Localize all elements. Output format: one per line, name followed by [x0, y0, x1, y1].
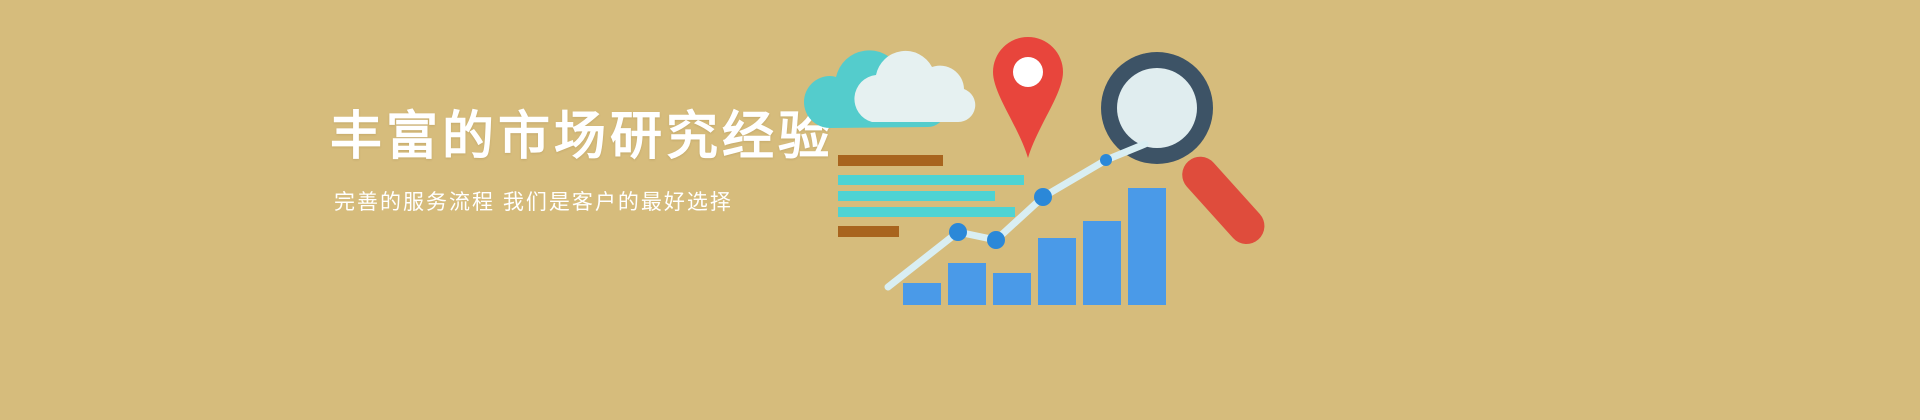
- magnifier-handle: [1175, 149, 1272, 251]
- document-lines-icon: [838, 155, 1024, 237]
- chart-bar: [1083, 221, 1121, 305]
- chart-bar: [1038, 238, 1076, 305]
- chart-bar: [948, 263, 986, 305]
- map-pin-dot: [1013, 57, 1043, 87]
- chart-bar: [1128, 188, 1166, 305]
- hero-banner: 丰富的市场研究经验 完善的服务流程 我们是客户的最好选择: [0, 0, 1920, 420]
- map-pin-icon: [993, 37, 1063, 158]
- market-research-illustration: [800, 0, 1320, 420]
- trend-point: [987, 231, 1005, 249]
- trend-point: [1034, 188, 1052, 206]
- chart-bar: [903, 283, 941, 305]
- trend-point: [1100, 154, 1112, 166]
- magnifier-lens: [1117, 68, 1197, 148]
- chart-bar: [993, 273, 1031, 305]
- trend-point: [949, 223, 967, 241]
